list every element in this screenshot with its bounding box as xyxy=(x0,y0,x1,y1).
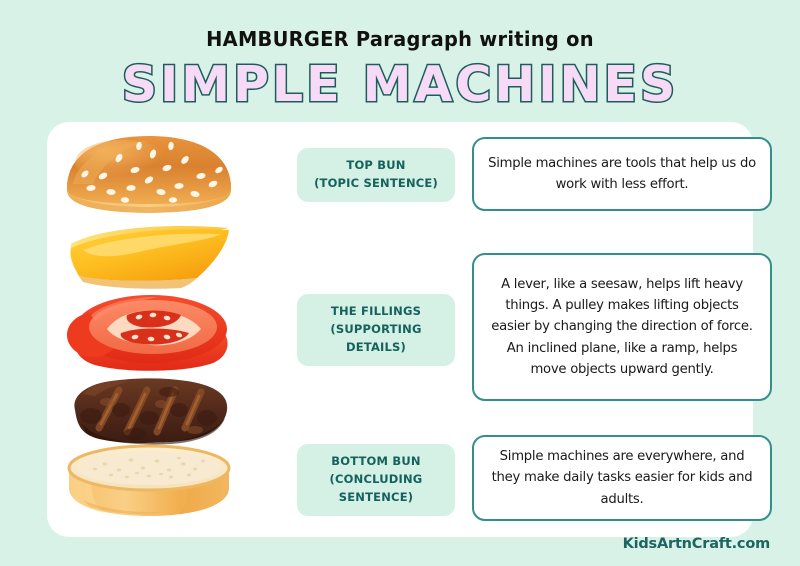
cheese-slice-icon xyxy=(61,220,237,290)
label-top-bun-line1: TOP BUN xyxy=(346,158,405,172)
paragraph-column: Simple machines are tools that help us d… xyxy=(425,122,753,537)
label-bottom-bun-line3: SENTENCE) xyxy=(339,490,413,504)
label-column: TOP BUN (TOPIC SENTENCE) THE FILLINGS (S… xyxy=(250,122,415,537)
paragraph-box-concluding-sentence: Simple machines are everywhere, and they… xyxy=(472,435,772,521)
page-title: SIMPLE MACHINES xyxy=(0,60,800,109)
brand-watermark: KidsArtnCraft.com xyxy=(623,536,770,552)
hamburger-top-bun-sesame-icon xyxy=(61,132,237,220)
beef-patty-icon xyxy=(61,370,237,450)
paragraph-box-topic-sentence: Simple machines are tools that help us d… xyxy=(472,137,772,211)
hamburger-stack-column xyxy=(47,122,252,537)
tomato-slice-icon xyxy=(61,285,237,373)
paragraph-supporting-details: A lever, like a seesaw, helps lift heavy… xyxy=(488,274,756,381)
content-card: TOP BUN (TOPIC SENTENCE) THE FILLINGS (S… xyxy=(47,122,753,537)
paragraph-concluding-sentence: Simple machines are everywhere, and they… xyxy=(488,446,756,510)
label-top-bun-line2: (TOPIC SENTENCE) xyxy=(314,176,438,190)
infographic-header: HAMBURGER Paragraph writing on SIMPLE MA… xyxy=(0,0,800,118)
header-subtitle: HAMBURGER Paragraph writing on xyxy=(12,27,788,51)
label-fillings-line1: THE FILLINGS xyxy=(331,304,421,318)
paragraph-topic-sentence: Simple machines are tools that help us d… xyxy=(488,153,756,196)
label-bottom-bun-line1: BOTTOM BUN xyxy=(331,454,420,468)
label-fillings-line2: (SUPPORTING xyxy=(330,322,421,336)
label-fillings-line3: DETAILS) xyxy=(346,340,406,354)
paragraph-box-supporting-details: A lever, like a seesaw, helps lift heavy… xyxy=(472,253,772,401)
hamburger-bottom-bun-icon xyxy=(61,442,237,522)
label-bottom-bun-line2: (CONCLUDING xyxy=(330,472,423,486)
